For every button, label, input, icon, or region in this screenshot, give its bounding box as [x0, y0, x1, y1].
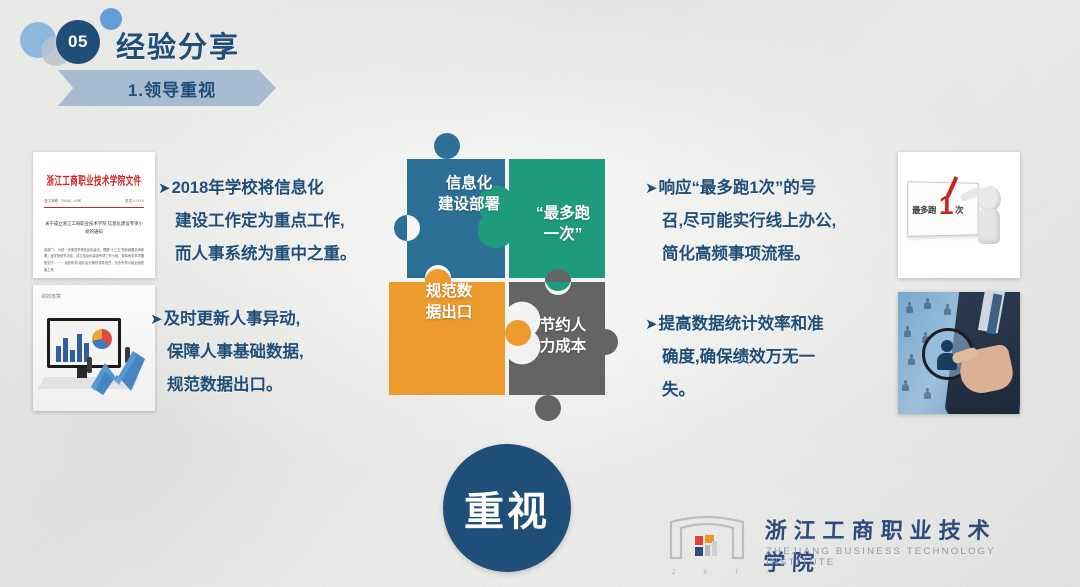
- document-meta-left: 浙工商职〔2018〕10号: [44, 199, 81, 204]
- bullet-text: 2018年学校将信息化: [172, 179, 324, 197]
- section-number-text: 05: [68, 32, 88, 52]
- bullet-text: 及时更新人事异动,: [164, 310, 301, 328]
- subtitle-text: 1.领导重视: [118, 76, 216, 101]
- bullet-line: ➤2018年学校将信息化: [158, 172, 357, 205]
- focus-circle: 重视: [443, 444, 571, 572]
- bullet-arrow-icon: ➤: [645, 316, 659, 333]
- official-document-thumbnail: 浙江工商职业技术学院文件 浙工商职〔2018〕10号 签发人:XXX 关于成立浙…: [33, 152, 155, 278]
- puzzle-label-bottom-left: 规范数 据出口: [403, 281, 495, 323]
- slide-canvas: 05 经验分享 1.领导重视 浙江工商职业技术学院文件 浙工商职〔2018〕10…: [0, 0, 1080, 587]
- person-icon: [908, 354, 915, 365]
- school-name-english: ZHEJIANG BUSINESS TECHNOLOGY INSTITUTE: [766, 546, 1024, 568]
- person-icon: [904, 326, 911, 337]
- school-logo: Z B T I 浙江工商职业技术学院 ZHEJIANG BUSINESS TEC…: [668, 512, 1024, 574]
- bullet-line: 简化高频事项流程。: [645, 238, 836, 271]
- bullet-line: ➤提高数据统计效率和准: [645, 308, 824, 341]
- puzzle-label-top-right: “最多跑 一次”: [517, 203, 609, 245]
- document-red-rule: [44, 207, 144, 208]
- hr-magnifier-thumbnail: [898, 292, 1020, 414]
- whiteboard-suffix: 次: [955, 204, 963, 216]
- screen-bar: [77, 334, 82, 362]
- school-logo-mark-icon: [668, 514, 746, 562]
- blue-zigzag-arrow-icon: [89, 347, 147, 395]
- bullet-line: 保障人事基础数据,: [150, 336, 304, 369]
- document-body: 各部门： 为进一步推进学校信息化建设，根据“十三五”规划纲要总体部署，经学校研究…: [44, 247, 144, 274]
- bullet-line: 而人事系统为重中之重。: [158, 238, 357, 271]
- puzzle-diagram: 信息化 建设部署 “最多跑 一次” 规范数 据出口 节约人 力成本: [385, 133, 627, 405]
- puzzle-label-bottom-right: 节约人 力成本: [517, 315, 609, 357]
- bullet-arrow-icon: ➤: [645, 180, 659, 197]
- monitor-stand: [77, 368, 87, 378]
- bullet-arrow-icon: ➤: [158, 180, 172, 197]
- person-icon: [944, 304, 951, 315]
- bullet-block-bottom-left: ➤及时更新人事异动, 保障人事基础数据, 规范数据出口。: [150, 303, 304, 402]
- document-red-title: 浙江工商职业技术学院文件: [44, 172, 144, 189]
- bullet-text: 提高数据统计效率和准: [659, 315, 824, 333]
- whiteboard-text: 最多跑: [912, 204, 936, 216]
- bullet-block-top-right: ➤响应“最多跑1次”的号 召,尽可能实行线上办公, 简化高频事项流程。: [645, 172, 836, 271]
- screen-bar: [63, 338, 68, 362]
- bullet-line: 召,尽可能实行线上办公,: [645, 205, 836, 238]
- puzzle-label-top-left: 信息化 建设部署: [423, 173, 515, 215]
- screen-pie-chart: [92, 329, 112, 349]
- chart-caption: 绩效核算: [41, 293, 61, 300]
- bullet-block-bottom-right: ➤提高数据统计效率和准 确度,确保绩效万无一 失。: [645, 308, 824, 407]
- section-number-badge: 05: [56, 20, 100, 64]
- person-icon: [902, 380, 909, 391]
- bullet-line: ➤及时更新人事异动,: [150, 303, 304, 336]
- bullet-line: ➤响应“最多跑1次”的号: [645, 172, 836, 205]
- bullet-block-top-left: ➤2018年学校将信息化 建设工作定为重点工作, 而人事系统为重中之重。: [158, 172, 357, 271]
- bullet-text: 响应“最多跑1次”的号: [659, 179, 817, 197]
- person-icon: [924, 298, 931, 309]
- focus-circle-text: 重视: [464, 479, 550, 537]
- run-once-whiteboard-thumbnail: 最多跑 1 次: [898, 152, 1020, 278]
- bullet-line: 建设工作定为重点工作,: [158, 205, 357, 238]
- bullet-line: 失。: [645, 374, 824, 407]
- bullet-line: 规范数据出口。: [150, 369, 304, 402]
- subtitle-banner: 1.领导重视: [58, 70, 276, 106]
- document-heading: 关于成立浙江工商职业技术学院 信息化建设专项小组的通知: [44, 220, 144, 237]
- document-meta: 浙工商职〔2018〕10号 签发人:XXX: [44, 199, 144, 204]
- screen-bar: [70, 350, 75, 362]
- document-meta-right: 签发人:XXX: [125, 199, 144, 204]
- performance-chart-thumbnail: 绩效核算: [33, 285, 155, 411]
- bullet-arrow-icon: ➤: [150, 311, 164, 328]
- document-page: 浙江工商职业技术学院文件 浙工商职〔2018〕10号 签发人:XXX 关于成立浙…: [33, 152, 155, 278]
- figure-body: [978, 208, 1000, 244]
- person-icon: [906, 302, 913, 313]
- screen-bar: [56, 346, 61, 362]
- person-icon: [924, 388, 931, 399]
- bullet-line: 确度,确保绩效万无一: [645, 341, 824, 374]
- page-title: 经验分享: [116, 24, 240, 66]
